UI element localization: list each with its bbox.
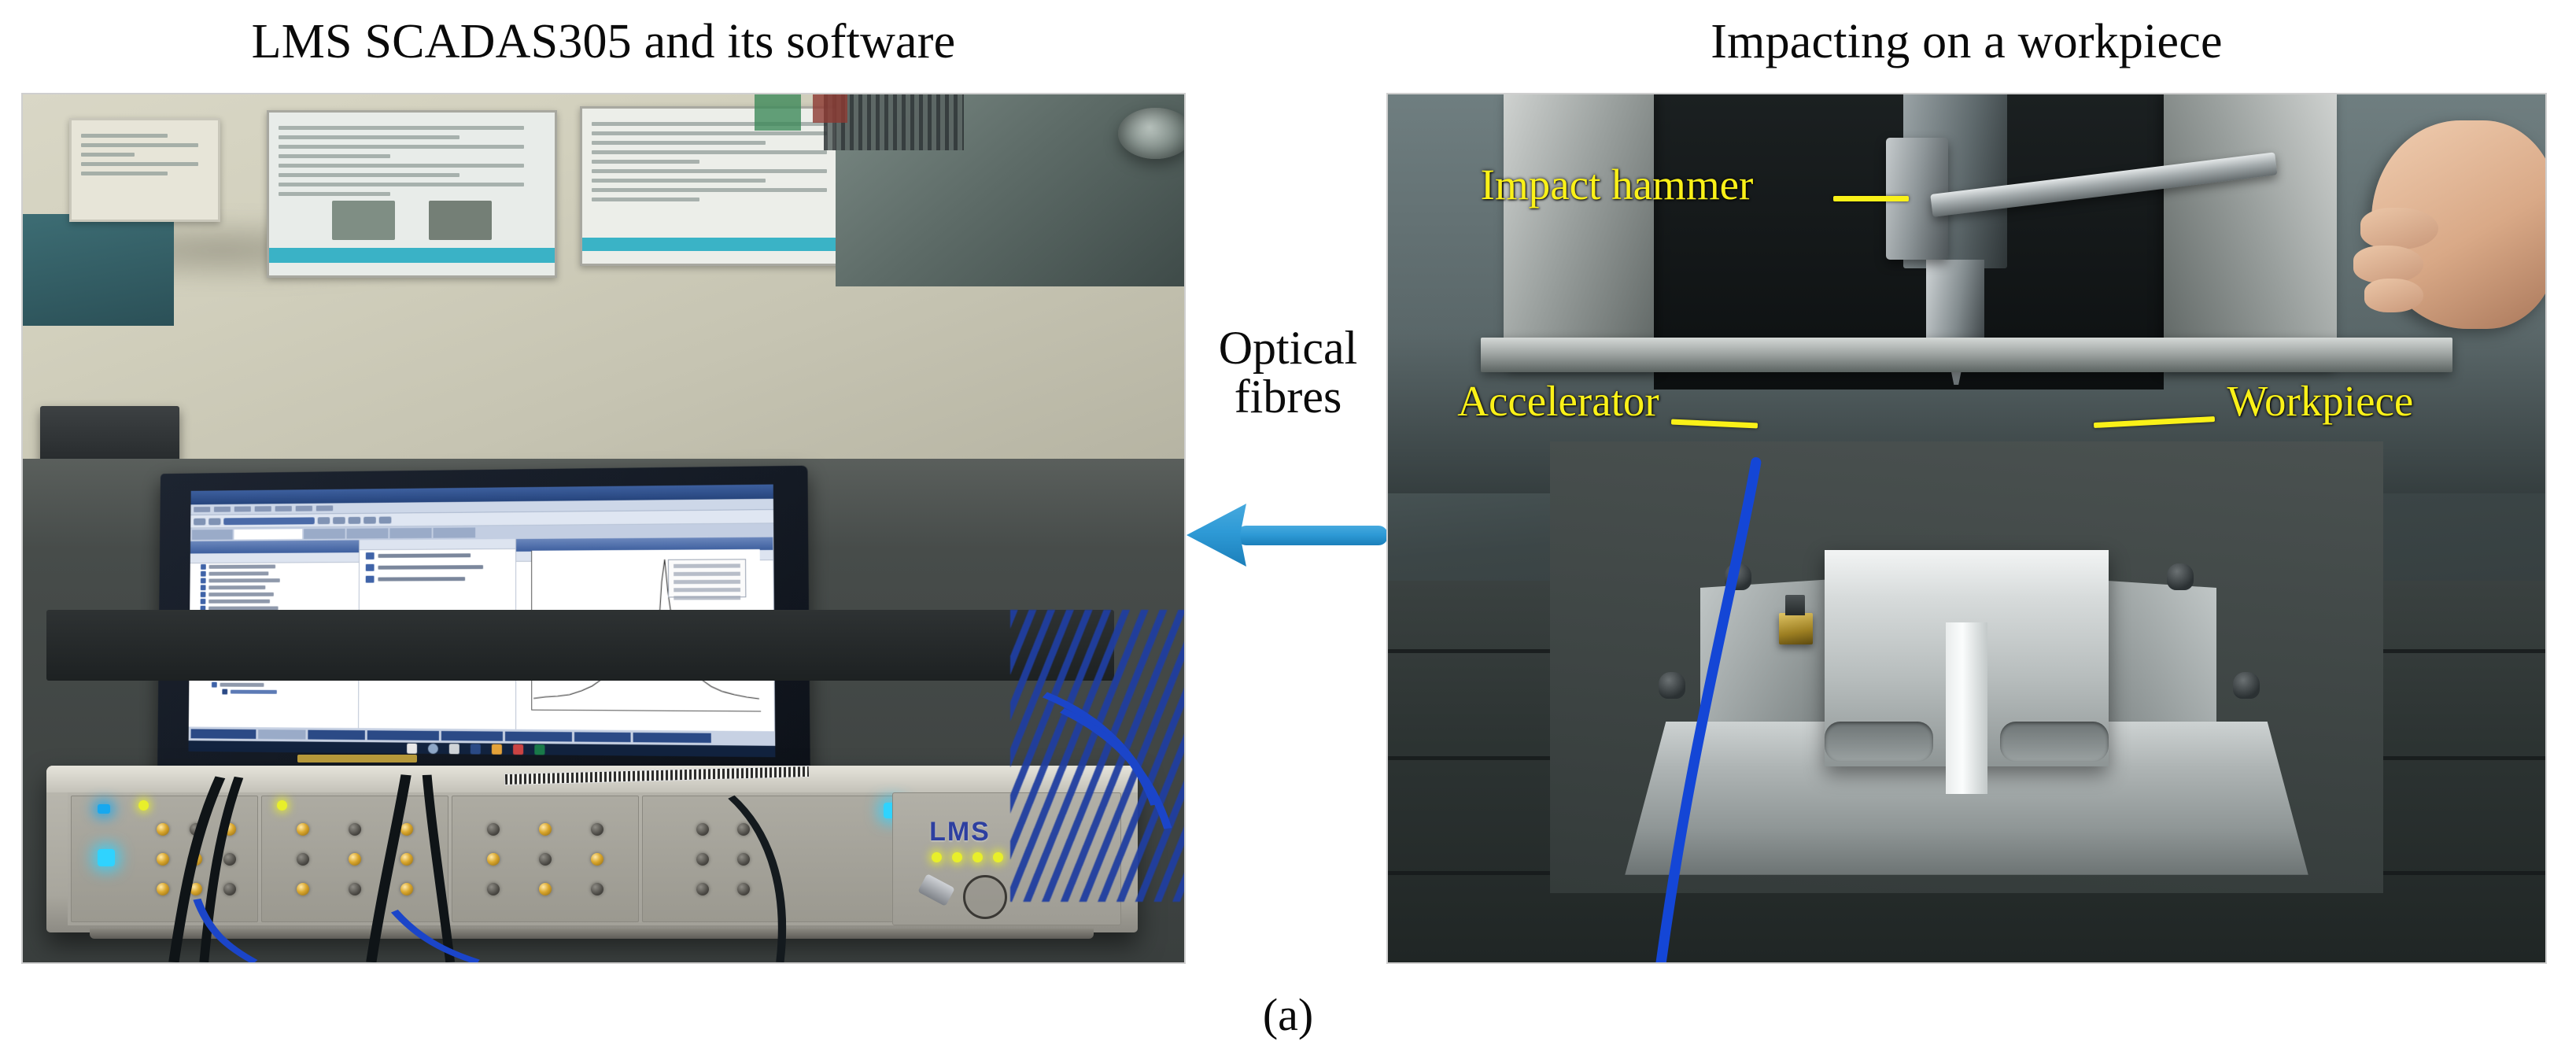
finger <box>2364 279 2423 312</box>
bnc-connector[interactable] <box>190 823 202 836</box>
power-led-blue <box>98 804 110 814</box>
bnc-connector[interactable] <box>157 853 169 866</box>
lms-led-yellow <box>932 852 942 862</box>
bnc-connector[interactable] <box>223 823 236 836</box>
clamp-bolt <box>2167 563 2194 590</box>
lms-power-knob[interactable] <box>963 875 1007 919</box>
bnc-connector[interactable] <box>223 853 236 866</box>
clamp-bolt <box>2233 672 2260 699</box>
list-pane-header <box>360 539 516 550</box>
scadas-module-1 <box>71 796 258 922</box>
left-panel-caption: LMS SCADAS305 and its software <box>21 14 1186 70</box>
machine-green-marker <box>755 94 801 131</box>
bnc-connector[interactable] <box>539 853 552 866</box>
clamp-bolt <box>1725 563 1751 590</box>
workpiece-centre-rib <box>1946 622 1987 794</box>
bnc-connector[interactable] <box>737 853 750 866</box>
impact-hammer-leader-line <box>1833 196 1909 201</box>
workpiece-annotation-label: Workpiece <box>2227 376 2413 426</box>
status-led-cyan <box>98 849 115 866</box>
list-item <box>360 561 516 574</box>
channel-led-yellow <box>138 800 149 810</box>
lms-led-yellow <box>993 852 1003 862</box>
scadas-module-2 <box>261 796 448 922</box>
lab-bench: lenovo <box>23 459 1184 962</box>
impact-hammer-annotation-label: Impact hammer <box>1481 160 1754 209</box>
bnc-connector[interactable] <box>157 823 169 836</box>
right-photo-impact-test: Impact hammer Accelerator Workpiece <box>1386 93 2547 964</box>
workpiece-pocket <box>2000 722 2109 762</box>
bnc-connector[interactable] <box>696 823 709 836</box>
bnc-connector[interactable] <box>487 823 500 836</box>
bnc-connector[interactable] <box>157 883 169 895</box>
right-panel-caption: Impacting on a workpiece <box>1386 14 2547 70</box>
lms-scadas305-chassis: LMS <box>46 766 1138 932</box>
optical-fibres-line1: Optical <box>1190 324 1386 373</box>
bnc-connector[interactable] <box>737 823 750 836</box>
blue-cable-bundle <box>1010 610 1186 902</box>
bnc-connector[interactable] <box>539 883 552 895</box>
bnc-connector[interactable] <box>297 853 309 866</box>
bnc-connector[interactable] <box>349 883 361 895</box>
figure-sublabel: (a) <box>0 988 2576 1041</box>
bnc-connector[interactable] <box>400 883 413 895</box>
machine-red-marker <box>813 94 847 123</box>
finger <box>2360 208 2438 249</box>
bnc-connector[interactable] <box>591 823 603 836</box>
plot-legend <box>668 559 747 597</box>
bnc-connector[interactable] <box>539 823 552 836</box>
workholding-fixture <box>1550 441 2383 893</box>
wall-poster-1 <box>69 118 220 222</box>
lms-status-led-row <box>932 852 1003 862</box>
bnc-connector[interactable] <box>591 853 603 866</box>
optical-fibres-arrow-icon <box>1185 497 1391 573</box>
bnc-connector[interactable] <box>696 883 709 895</box>
bnc-connector[interactable] <box>297 883 309 895</box>
machine-round-port <box>1118 108 1186 159</box>
bnc-connector[interactable] <box>737 883 750 895</box>
bnc-connector[interactable] <box>223 883 236 895</box>
scadas-bottom-rail <box>90 929 1094 939</box>
bnc-connector[interactable] <box>349 823 361 836</box>
bnc-connector[interactable] <box>487 853 500 866</box>
optical-fibres-annotation: Optical fibres <box>1190 324 1386 422</box>
bnc-connector[interactable] <box>190 883 202 895</box>
accelerometer-sensor <box>1779 613 1812 644</box>
lab-cabinet <box>23 214 174 326</box>
finger <box>2353 246 2423 283</box>
lab-wall <box>23 94 1184 493</box>
bnc-connector[interactable] <box>400 853 413 866</box>
bnc-connector[interactable] <box>349 853 361 866</box>
scadas-yellow-tag <box>297 755 418 763</box>
left-photo-lms-scadas-setup: lenovo <box>21 93 1186 964</box>
lms-led-yellow <box>952 852 962 862</box>
tree-pane-path <box>190 553 359 564</box>
channel-led-yellow <box>277 800 287 810</box>
bnc-connector[interactable] <box>400 823 413 836</box>
lms-power-connector[interactable] <box>917 874 955 907</box>
scadas-module-4 <box>642 796 922 922</box>
workpiece-pocket <box>1825 722 1933 762</box>
list-item <box>360 549 516 562</box>
bench-support-plate <box>46 610 1115 681</box>
optical-fibres-line2: fibres <box>1190 373 1386 422</box>
bnc-connector[interactable] <box>696 853 709 866</box>
optical-fibres-arrow-wrap <box>1185 497 1391 573</box>
lms-brand-logo: LMS <box>929 817 991 847</box>
machine-column-left <box>1504 94 1654 372</box>
figure-root: LMS SCADAS305 and its software Impacting… <box>0 0 2576 1056</box>
clamp-bolt <box>1659 672 1685 699</box>
wall-poster-3 <box>580 106 858 266</box>
lms-led-yellow <box>972 852 983 862</box>
scadas-module-3 <box>452 796 639 922</box>
wall-poster-2 <box>267 110 557 278</box>
bnc-connector[interactable] <box>297 823 309 836</box>
accelerator-annotation-label: Accelerator <box>1457 376 1659 426</box>
bnc-connector[interactable] <box>487 883 500 895</box>
operator-hand <box>2371 120 2547 329</box>
machine-column-right <box>2164 94 2338 372</box>
accelerometer-connector <box>1785 595 1805 615</box>
bnc-connector[interactable] <box>591 883 603 895</box>
tree-pane-header <box>191 541 360 554</box>
list-item <box>360 573 516 585</box>
machine-cross-rail <box>1481 338 2453 372</box>
bnc-connector[interactable] <box>190 853 202 866</box>
